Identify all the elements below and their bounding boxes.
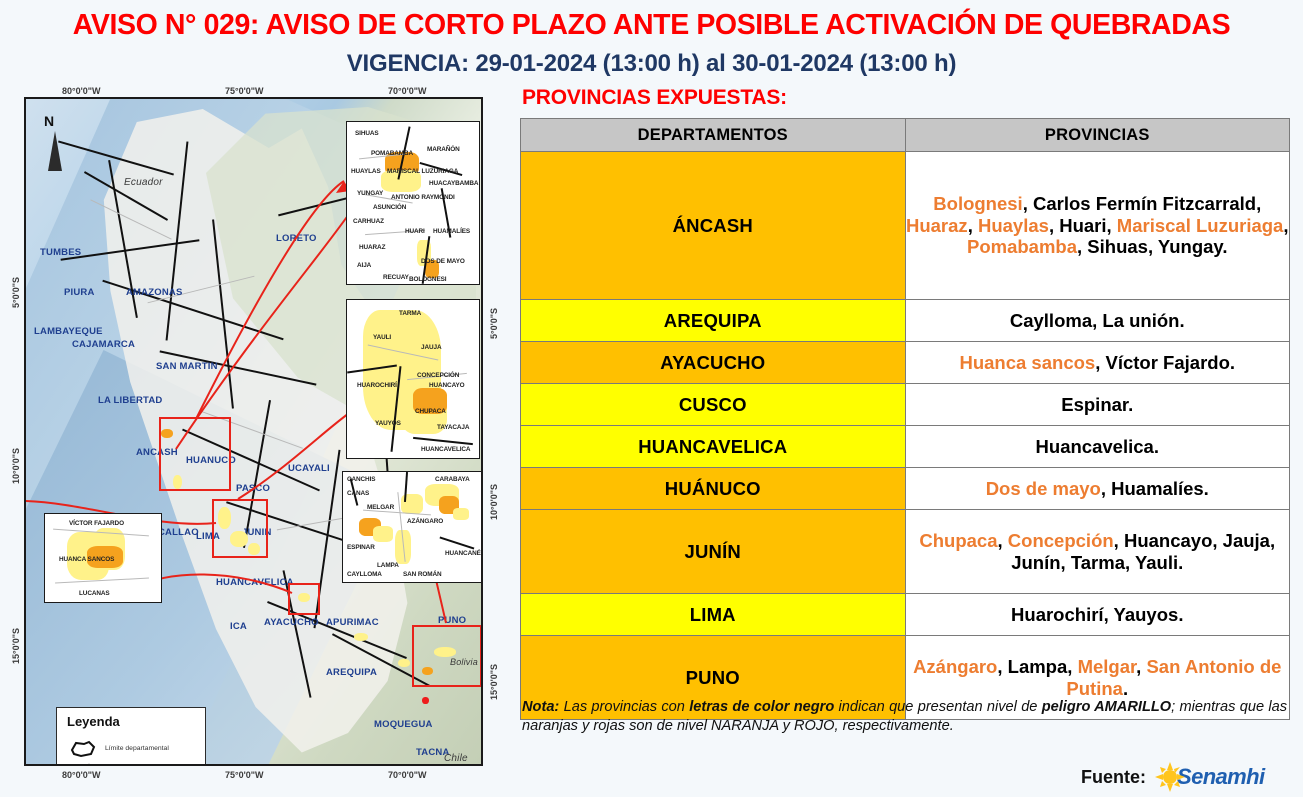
- province-name: Concepción: [1008, 530, 1114, 551]
- axis-tick-bottom-2: 70°0'0"W: [388, 770, 427, 780]
- map-label-chile: Chile: [444, 753, 468, 764]
- puno-inset[interactable]: CANCHIS CARABAYA CANAS MELGAR AZÁNGARO E…: [342, 471, 482, 583]
- province-name: Espinar: [1061, 394, 1128, 415]
- provinces-panel: PROVINCIAS EXPUESTAS: DEPARTAMENTOS PROV…: [512, 86, 1297, 786]
- map-label-loreto: LORETO: [276, 233, 317, 244]
- province-separator: ,: [1270, 530, 1275, 551]
- ancash-inset[interactable]: SIHUAS POMABAMBA MARAÑÓN HUAYLAS MARISCA…: [346, 121, 480, 285]
- axis-tick-top-2: 70°0'0"W: [388, 86, 427, 96]
- inset-label: ESPINAR: [347, 544, 375, 551]
- map-label-amazonas: AMAZONAS: [126, 287, 183, 298]
- hazard-patch: [398, 659, 410, 667]
- inset-label: HUANCANÉ: [445, 550, 481, 557]
- inset-label: ASUNCIÓN: [373, 204, 406, 211]
- province-separator: .: [1204, 478, 1209, 499]
- inset-label: DOS DE MAYO: [421, 258, 465, 265]
- axis-tick-right-0: 5°0'0"S: [489, 308, 499, 339]
- table-header-row: DEPARTAMENTOS PROVINCIAS: [521, 119, 1290, 152]
- province-separator: .: [1178, 552, 1183, 573]
- inset-label: CARABAYA: [435, 476, 470, 483]
- province-separator: ,: [1107, 215, 1117, 236]
- province-separator: ,: [1125, 552, 1135, 573]
- inset-label: HUAYLAS: [351, 168, 381, 175]
- inset-label: MELGAR: [367, 504, 394, 511]
- province-separator: .: [1123, 678, 1128, 699]
- province-name: Mariscal Luzuriaga: [1117, 215, 1284, 236]
- province-separator: ,: [1077, 236, 1087, 257]
- note-bold2: peligro AMARILLO: [1042, 699, 1171, 715]
- provinces-cell: Huanca sancos, Víctor Fajardo.: [905, 342, 1290, 384]
- province-separator: ,: [1067, 656, 1077, 677]
- inset-label: HUARI: [405, 228, 425, 235]
- column-header-departamentos: DEPARTAMENTOS: [521, 119, 906, 152]
- map-label-cajamarca: CAJAMARCA: [72, 339, 135, 350]
- hazard-patch: [422, 697, 429, 704]
- source-label: Fuente:: [1081, 767, 1146, 788]
- locator-box-junin[interactable]: [212, 499, 268, 558]
- province-separator: ,: [1023, 193, 1033, 214]
- map-label-ecuador: Ecuador: [124, 177, 163, 188]
- legend-title: Leyenda: [67, 714, 120, 729]
- table-row: LIMAHuarochirí, Yauyos.: [521, 594, 1290, 636]
- inset-boundary: [413, 437, 473, 445]
- table-row: AYACUCHOHuanca sancos, Víctor Fajardo.: [521, 342, 1290, 384]
- inset-label: CARHUAZ: [353, 218, 384, 225]
- department-cell: AREQUIPA: [521, 300, 906, 342]
- map-label-tumbes: TUMBES: [40, 247, 81, 258]
- province-name: Carlos Fermín Fitzcarrald: [1033, 193, 1256, 214]
- province-name: Bolognesi: [933, 193, 1022, 214]
- province-name: Tarma: [1071, 552, 1125, 573]
- axis-tick-top-0: 80°0'0"W: [62, 86, 101, 96]
- province-separator: ,: [968, 215, 978, 236]
- map-canvas[interactable]: N TUMBES: [24, 97, 483, 766]
- map-label-callao: CALLAO: [158, 527, 199, 538]
- axis-tick-left-2: 15°0'0"S: [11, 628, 21, 664]
- inset-label: CANCHIS: [347, 476, 375, 483]
- inset-boundary: [440, 536, 475, 549]
- inset-label: ANTONIO RAYMONDI: [391, 194, 455, 201]
- inset-label: SAN ROMÁN: [403, 571, 442, 578]
- junin-inset[interactable]: TARMA YAULI JAUJA CONCEPCIÓN HUANCAYO HU…: [346, 299, 480, 459]
- axis-tick-bottom-1: 75°0'0"W: [225, 770, 264, 780]
- table-row: CUSCOEspinar.: [521, 384, 1290, 426]
- axis-tick-top-1: 75°0'0"W: [225, 86, 264, 96]
- province-separator: ,: [1095, 352, 1105, 373]
- province-separator: ,: [1283, 215, 1288, 236]
- note-label: Nota:: [522, 699, 559, 715]
- province-separator: ,: [1101, 478, 1111, 499]
- province-separator: ,: [1114, 530, 1124, 551]
- map-label-ica: ICA: [230, 621, 247, 632]
- inset-label: HUAROCHIRÍ: [357, 382, 397, 389]
- inset-label: HUAMALÍES: [433, 228, 470, 235]
- map-label-ucayali: UCAYALI: [288, 463, 330, 474]
- inset-label: CONCEPCIÓN: [417, 372, 459, 379]
- table-row: AREQUIPACaylloma, La unión.: [521, 300, 1290, 342]
- province-separator: ,: [1212, 530, 1222, 551]
- legend-label-limite-departamental: Límite departamental: [105, 745, 169, 752]
- province-separator: ,: [998, 530, 1008, 551]
- province-name: Chupaca: [919, 530, 997, 551]
- inset-label: JAUJA: [421, 344, 441, 351]
- inset-label: LAMPA: [377, 562, 399, 569]
- inset-label: AIJA: [357, 262, 371, 269]
- provinces-cell: Caylloma, La unión.: [905, 300, 1290, 342]
- note-part2: indican que presentan nivel de: [834, 699, 1041, 715]
- limite-provincial-icon: [69, 762, 97, 766]
- inset-label: VÍCTOR FAJARDO: [69, 520, 124, 527]
- provinces-cell: Espinar.: [905, 384, 1290, 426]
- map-label-apurimac: APURIMAC: [326, 617, 379, 628]
- provinces-cell: Huarochirí, Yauyos.: [905, 594, 1290, 636]
- inset-label: HUANCA SANCOS: [59, 556, 114, 563]
- locator-box-ayacucho[interactable]: [288, 583, 320, 615]
- inset-label: MARISCAL LUZURIAGA: [387, 168, 458, 175]
- provinces-cell: Chupaca, Concepción, Huancayo, Jauja, Ju…: [905, 510, 1290, 594]
- note-part1: Las provincias con: [559, 699, 689, 715]
- province-separator: ,: [1256, 193, 1261, 214]
- province-name: Dos de mayo: [986, 478, 1101, 499]
- map-label-huancavelica: HUANCAVELICA: [216, 577, 294, 588]
- inset-label: HUARAZ: [359, 244, 385, 251]
- validity-subtitle: VIGENCIA: 29-01-2024 (13:00 h) al 30-01-…: [0, 50, 1303, 78]
- inset-label: BOLOGNESI: [409, 276, 446, 283]
- province-name: Huaylas: [978, 215, 1049, 236]
- inset-hazard-patch: [373, 526, 393, 542]
- department-cell: HUANCAVELICA: [521, 426, 906, 468]
- province-separator: ,: [1148, 236, 1158, 257]
- province-name: Lampa: [1008, 656, 1068, 677]
- province-separator: .: [1154, 436, 1159, 457]
- province-separator: ,: [1049, 215, 1059, 236]
- province-name: Huari: [1059, 215, 1106, 236]
- department-cell: JUNÍN: [521, 510, 906, 594]
- limite-departamental-icon: [69, 740, 97, 758]
- province-name: La unión: [1102, 310, 1179, 331]
- department-cell: HUÁNUCO: [521, 468, 906, 510]
- map-label-la-libertad: LA LIBERTAD: [98, 395, 162, 406]
- compass-needle-icon: [48, 131, 62, 171]
- inset-label: MARAÑÓN: [427, 146, 460, 153]
- locator-box-ancash[interactable]: [159, 417, 231, 491]
- column-header-provincias: PROVINCIAS: [905, 119, 1290, 152]
- department-cell: AYACUCHO: [521, 342, 906, 384]
- province-separator: .: [1230, 352, 1235, 373]
- department-cell: ÁNCASH: [521, 152, 906, 300]
- province-separator: ,: [1104, 604, 1114, 625]
- provinces-table-body: ÁNCASHBolognesi, Carlos Fermín Fitzcarra…: [521, 152, 1290, 720]
- inset-label: YAUYOS: [375, 420, 401, 427]
- map-label-moquegua: MOQUEGUA: [374, 719, 433, 730]
- inset-label: SIHUAS: [355, 130, 379, 137]
- inset-label: CHUPACA: [415, 408, 446, 415]
- inset-label: HUACAYBAMBA: [429, 180, 478, 187]
- map-label-lambayeque: LAMBAYEQUE: [34, 326, 103, 337]
- table-row: HUÁNUCODos de mayo, Huamalíes.: [521, 468, 1290, 510]
- axis-tick-left-0: 5°0'0"S: [11, 277, 21, 308]
- map-panel: 80°0'0"W 75°0'0"W 70°0'0"W 80°0'0"W 75°0…: [10, 86, 490, 780]
- note-bold1: letras de color negro: [689, 699, 834, 715]
- inset-label: LUCANAS: [79, 590, 110, 597]
- compass-icon: N: [36, 113, 70, 177]
- province-name: Yauyos: [1114, 604, 1179, 625]
- province-name: Pomabamba: [967, 236, 1077, 257]
- department-cell: CUSCO: [521, 384, 906, 426]
- province-name: Azángaro: [913, 656, 997, 677]
- senamhi-wordmark: Senamhi: [1177, 764, 1265, 790]
- provinces-cell: Bolognesi, Carlos Fermín Fitzcarrald, Hu…: [905, 152, 1290, 300]
- provinces-cell: Dos de mayo, Huamalíes.: [905, 468, 1290, 510]
- table-row: ÁNCASHBolognesi, Carlos Fermín Fitzcarra…: [521, 152, 1290, 300]
- inset-label: CAYLLOMA: [347, 571, 382, 578]
- province-separator: .: [1179, 310, 1184, 331]
- province-separator: ,: [1092, 310, 1102, 331]
- province-name: Huanca sancos: [959, 352, 1095, 373]
- ayacucho-inset[interactable]: VÍCTOR FAJARDO HUANCA SANCOS LUCANAS: [44, 513, 162, 603]
- inset-label: CANAS: [347, 490, 369, 497]
- province-name: Huancavelica: [1036, 436, 1154, 457]
- province-separator: ,: [997, 656, 1007, 677]
- axis-tick-right-1: 10°0'0"S: [489, 484, 499, 520]
- page-title: AVISO N° 029: AVISO DE CORTO PLAZO ANTE …: [0, 9, 1303, 42]
- province-name: Jauja: [1223, 530, 1270, 551]
- axis-tick-right-2: 15°0'0"S: [489, 664, 499, 700]
- province-separator: .: [1128, 394, 1133, 415]
- map-label-arequipa: AREQUIPA: [326, 667, 377, 678]
- inset-label: POMABAMBA: [371, 150, 413, 157]
- province-name: Víctor Fajardo: [1105, 352, 1229, 373]
- province-name: Caylloma: [1010, 310, 1092, 331]
- inset-label: RECUAY: [383, 274, 409, 281]
- inset-label: YAULI: [373, 334, 391, 341]
- province-name: Junín: [1011, 552, 1060, 573]
- inset-label: TARMA: [399, 310, 421, 317]
- locator-box-puno[interactable]: [412, 625, 482, 687]
- hazard-patch: [354, 633, 368, 641]
- provinces-cell: Huancavelica.: [905, 426, 1290, 468]
- province-separator: ,: [1136, 656, 1146, 677]
- aviso-page: AVISO N° 029: AVISO DE CORTO PLAZO ANTE …: [0, 0, 1303, 788]
- inset-label: AZÁNGARO: [407, 518, 443, 525]
- header: AVISO N° 029: AVISO DE CORTO PLAZO ANTE …: [0, 0, 1303, 84]
- province-name: Yauli: [1135, 552, 1178, 573]
- map-legend: Leyenda Límite departamental Límite prov…: [56, 707, 206, 766]
- note-text: Nota: Las provincias con letras de color…: [522, 698, 1287, 737]
- province-separator: .: [1222, 236, 1227, 257]
- table-row: HUANCAVELICAHuancavelica.: [521, 426, 1290, 468]
- province-separator: .: [1178, 604, 1183, 625]
- axis-tick-left-1: 10°0'0"S: [11, 448, 21, 484]
- province-name: Huamalíes: [1111, 478, 1204, 499]
- inset-label: TAYACAJA: [437, 424, 469, 431]
- provinces-table: DEPARTAMENTOS PROVINCIAS ÁNCASHBolognesi…: [520, 118, 1290, 720]
- axis-tick-bottom-0: 80°0'0"W: [62, 770, 101, 780]
- department-cell: LIMA: [521, 594, 906, 636]
- inset-hazard-patch: [453, 508, 469, 520]
- provinces-heading: PROVINCIAS EXPUESTAS:: [522, 86, 787, 110]
- inset-label: HUANCAYO: [429, 382, 465, 389]
- province-name: Yungay: [1158, 236, 1222, 257]
- province-name: Huaraz: [906, 215, 968, 236]
- map-label-ayacucho: AYACUCHO: [264, 617, 319, 628]
- province-name: Melgar: [1078, 656, 1137, 677]
- province-name: Huarochirí: [1011, 604, 1104, 625]
- inset-label: HUANCAVELICA: [421, 446, 470, 453]
- map-label-piura: PIURA: [64, 287, 95, 298]
- map-label-pasco: PASCO: [236, 483, 270, 494]
- province-separator: ,: [1061, 552, 1071, 573]
- map-label-san-martin: SAN MARTIN: [156, 361, 218, 372]
- inset-label: YUNGAY: [357, 190, 383, 197]
- table-row: JUNÍNChupaca, Concepción, Huancayo, Jauj…: [521, 510, 1290, 594]
- province-name: Sihuas: [1087, 236, 1148, 257]
- province-name: Huancayo: [1124, 530, 1212, 551]
- compass-north-label: N: [44, 113, 54, 129]
